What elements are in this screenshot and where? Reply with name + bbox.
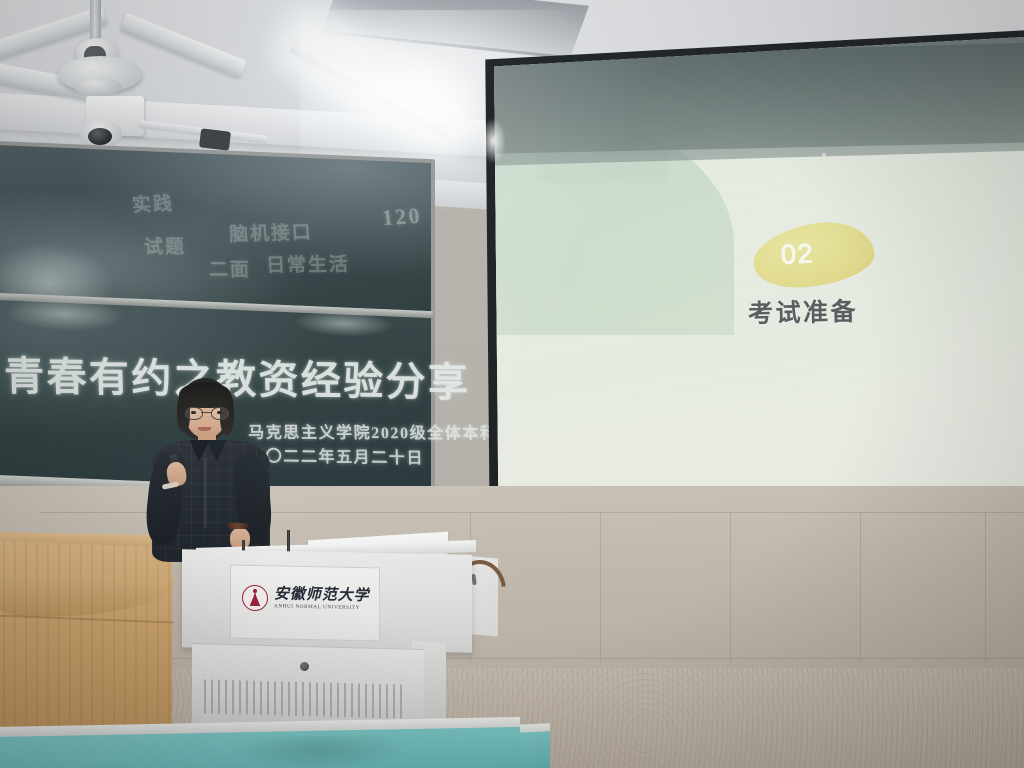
screen-surface: 02 考试准备: [482, 30, 1024, 522]
classroom-scene: 实践 试题 脑机接口 二面 日常生活 120 青春有约之教资经验分享 马克思主义…: [0, 0, 1024, 768]
lectern-vent-slots: [204, 679, 402, 718]
presenter-bracelet: [228, 523, 248, 529]
blackboard-subtitle-audience: 马克思主义学院2020级全体本科生: [248, 419, 516, 444]
university-logo-text: 安徽师范大学 ANHUI NORMAL UNIVERSITY: [274, 587, 369, 612]
chalk-note-4: 二面: [209, 255, 252, 282]
glasses-bridge: [201, 412, 211, 413]
presenter-eye-right: [217, 411, 222, 414]
tile-grout-line: [985, 512, 986, 662]
teal-desk-shadow: [230, 734, 410, 768]
conduit-junction-box: [199, 128, 231, 151]
presenter-mouth: [198, 427, 211, 431]
chalk-note-3: 脑机接口: [228, 217, 313, 246]
slide-section-title: 考试准备: [747, 292, 858, 330]
tile-grout-line: [730, 512, 731, 662]
chalk-note-1: 实践: [131, 189, 175, 218]
screen-light-flare: [480, 118, 506, 164]
presenter-shirt-placket: [204, 458, 207, 528]
chalk-note-5: 日常生活: [265, 250, 350, 278]
blackboard-upper-panel: 实践 试题 脑机接口 二面 日常生活 120: [0, 145, 431, 311]
tile-grout-line: [860, 512, 861, 662]
university-seal-icon: [242, 585, 268, 611]
university-logo: 安徽师范大学 ANHUI NORMAL UNIVERSITY: [242, 581, 372, 617]
slide-section-number: 02: [780, 239, 814, 271]
lectern-cabinet-lock[interactable]: [300, 662, 309, 671]
projection-screen: 02 考试准备: [482, 30, 1024, 522]
presenter-hair-fringe: [179, 382, 231, 408]
chalk-note-6: 120: [381, 203, 423, 231]
chalk-note-2: 试题: [143, 232, 186, 259]
tile-grout-line: [600, 512, 601, 662]
university-name-en: ANHUI NORMAL UNIVERSITY: [274, 605, 369, 612]
presenter-eye-left: [191, 411, 196, 414]
wood-desk-front-panel: [0, 540, 172, 738]
fan-hub-cap: [74, 78, 122, 96]
camera-lens: [88, 128, 112, 145]
university-name-cn: 安徽师范大学: [274, 587, 369, 604]
screen-speck: [822, 153, 826, 157]
slide-shape-green-corner: [482, 178, 581, 286]
